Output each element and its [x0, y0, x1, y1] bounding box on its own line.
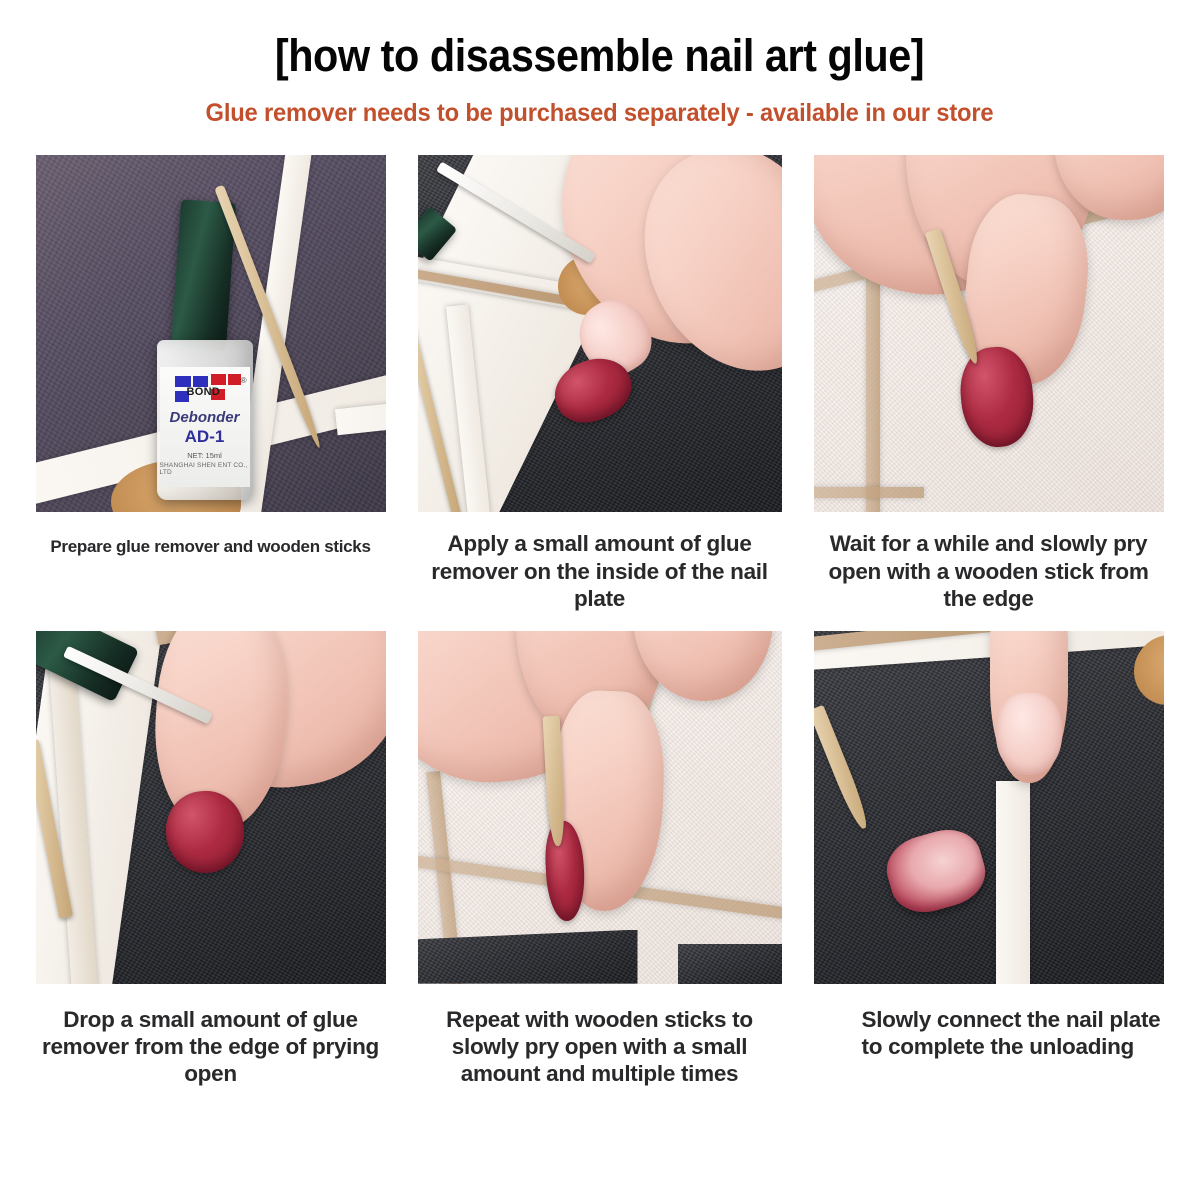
leather-patch [678, 944, 782, 984]
product-name: Debonder [169, 409, 239, 426]
brand-logo: BOND ® [167, 374, 243, 408]
step-card-5: Repeat with wooden sticks to slowly pry … [418, 631, 782, 1088]
logo-square-red [211, 374, 226, 385]
step-caption-6: Slowly connect the nail plate to complet… [814, 984, 1164, 1061]
page-title: [how to disassemble nail art glue] [48, 32, 1151, 79]
bottle-cap [170, 200, 235, 351]
brand-name: BOND [187, 386, 221, 398]
page-subtitle: Glue remover needs to be purchased separ… [30, 99, 1169, 128]
step-card-3: Wait for a while and slowly pry open wit… [814, 155, 1164, 612]
nail [996, 693, 1062, 775]
step-card-2: Apply a small amount of glue remover on … [418, 155, 782, 612]
step-card-1: BOND ® Debonder AD-1 NET: 15ml SHANGHAI … [36, 155, 386, 612]
header: [how to disassemble nail art glue] Glue … [0, 0, 1199, 128]
leather-background [814, 631, 1164, 984]
step-caption-2: Apply a small amount of glue remover on … [418, 512, 782, 612]
step-photo-1: BOND ® Debonder AD-1 NET: 15ml SHANGHAI … [36, 155, 386, 512]
step-caption-3: Wait for a while and slowly pry open wit… [814, 512, 1164, 612]
logo-square-red [228, 374, 241, 385]
tan-stripe-bottom [814, 487, 924, 498]
bottle-label: BOND ® Debonder AD-1 NET: 15ml SHANGHAI … [160, 367, 250, 487]
step-photo-6 [814, 631, 1164, 984]
registered-mark-icon: ® [241, 376, 247, 385]
white-stripe-vertical [996, 781, 1030, 984]
steps-grid-row-2: Drop a small amount of glue remover from… [36, 613, 1164, 1088]
product-net-volume: NET: 15ml [187, 451, 222, 460]
steps-grid-row-1: BOND ® Debonder AD-1 NET: 15ml SHANGHAI … [36, 128, 1164, 612]
step-caption-5: Repeat with wooden sticks to slowly pry … [418, 984, 782, 1088]
step-caption-4: Drop a small amount of glue remover from… [36, 984, 386, 1088]
step-card-6: Slowly connect the nail plate to complet… [814, 631, 1164, 1088]
step-caption-1: Prepare glue remover and wooden sticks [36, 512, 386, 558]
step-photo-4 [36, 631, 386, 984]
step-card-4: Drop a small amount of glue remover from… [36, 631, 386, 1088]
step-photo-5 [418, 631, 782, 984]
product-code: AD-1 [185, 427, 225, 447]
product-manufacturer: SHANGHAI SHEN ENT CO., LTD [160, 462, 250, 476]
step-photo-3 [814, 155, 1164, 512]
step-photo-2 [418, 155, 782, 512]
